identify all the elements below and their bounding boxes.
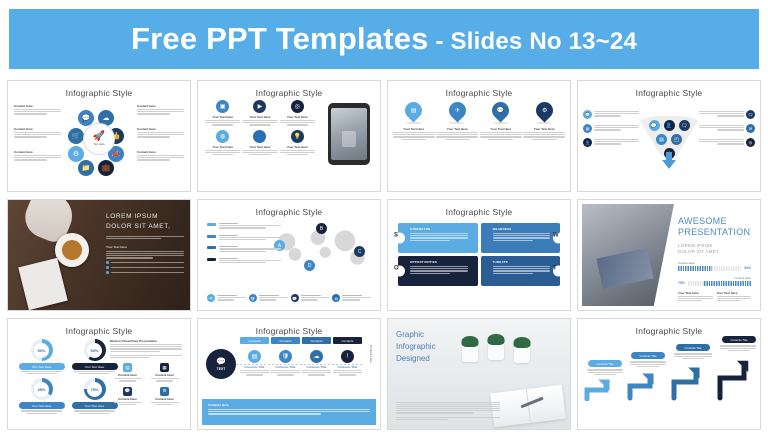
cell-heading: Your Text Here	[280, 115, 315, 119]
pin-item: 💬 Your Text Here	[480, 102, 522, 141]
slide-thumbnail-3[interactable]: Infographic Style ▤ Your Text Here ✈ You…	[387, 80, 571, 192]
comment-icon: 🗨	[679, 120, 690, 131]
coffee-photo: LOREM IPSUM DOLOR SIT AMET, Your Text He…	[8, 200, 190, 310]
icon-cell: 💡Your Text Here	[280, 130, 315, 157]
slide-text-block: AWESOME PRESENTATION LOREM IPSUM DOLOR S…	[678, 216, 751, 302]
donut-chart: 50%	[31, 339, 53, 361]
icon-cell: 👤Your Text Here	[242, 130, 277, 157]
user-icon: 👤	[664, 120, 675, 131]
step-heading: Contents Title	[240, 365, 269, 369]
slide-title: Infographic Style	[202, 88, 376, 98]
icon-heading: Content Here	[147, 397, 182, 401]
bar-label: Content Here	[678, 261, 751, 265]
donut-pill: Your Text Here	[19, 402, 65, 409]
swot-quadrant-t: T THREATS	[481, 256, 561, 286]
caption-heading: Your Text Here	[717, 291, 752, 295]
donut-percent: 35%	[34, 382, 49, 397]
pin-item: ✈ Your Text Here	[436, 102, 478, 141]
target-icon: ◎	[291, 100, 304, 113]
map-pin-icon: 💬	[489, 98, 513, 122]
center-label: Text Here	[93, 143, 104, 146]
slide-grid: Infographic Style Content Here Content H…	[7, 80, 761, 430]
swot-badge: S	[394, 233, 405, 244]
step-tab: Contents	[302, 337, 331, 344]
donut-percent: 60%	[87, 343, 102, 358]
funnel-right-list: 🗨 ✉ ◎	[699, 110, 755, 152]
body-text	[396, 401, 500, 422]
heading-line-2: DOLOR SIT AMET,	[106, 222, 184, 232]
slide-thumbnail-12[interactable]: Infographic Style Contents Title Content…	[577, 318, 761, 430]
map-pin-icon: ✈	[445, 98, 469, 122]
slide-thumbnail-4[interactable]: Infographic Style 💬 👤 🗨 ▤ ◰	[577, 80, 761, 192]
alert-icon: !	[341, 350, 354, 363]
petal-icon-8: 🛒	[68, 128, 84, 144]
content-heading: Content Here	[14, 150, 61, 154]
slide-title: Infographic Style	[392, 207, 566, 217]
person-icon: 👤	[253, 130, 266, 143]
doc-icon: ▤	[583, 124, 592, 133]
slide-title: Infographic Style	[582, 326, 756, 336]
map-footer-items: ☂ 🛡 💬 ◍	[207, 294, 371, 302]
pin-heading: Your Text Here	[436, 127, 478, 131]
pin-heading: Your Text Here	[393, 127, 435, 131]
tag-icon: ◰	[671, 134, 682, 145]
heading-line-2: Infographic	[396, 341, 436, 353]
petal-icon-6: 📁	[78, 160, 94, 176]
section-label: Your Text Here	[106, 245, 184, 249]
timeline-step: Contents ! Contents Title	[333, 337, 362, 377]
slide-thumbnail-5[interactable]: LOREM IPSUM DOLOR SIT AMET, Your Text He…	[7, 199, 191, 311]
chat-icon: 💬	[649, 120, 660, 131]
plant-pot-3	[514, 346, 530, 363]
image-icon: ▣	[216, 100, 229, 113]
icon-cell: ◎Your Text Here	[280, 100, 315, 127]
swot-label: WEAKNESS	[493, 227, 551, 231]
down-arrow-icon	[662, 160, 676, 169]
slide-title: Infographic Style	[392, 88, 566, 98]
funnel-diagram: 💬 👤 🗨 ▤ ◰ ◎	[582, 100, 756, 174]
content-heading: Content Here	[14, 127, 61, 131]
sub-line-1: LOREM IPSUM	[678, 243, 751, 250]
banner-main-text: Free PPT Templates	[131, 21, 429, 56]
chat-icon: 💬	[583, 110, 592, 119]
swot-badge: T	[553, 266, 564, 277]
progress-bar-row-1: Content Here 54%	[678, 261, 751, 271]
timeline-hub: 💬 TEXT	[206, 349, 236, 379]
swot-quadrant-s: S STRENGTHS	[398, 223, 478, 253]
step-tab: Contents	[271, 337, 300, 344]
banner-title: Free PPT Templates - Slides No 13~24	[131, 21, 637, 57]
slide-heading: Graphic Infographic Designed	[396, 329, 436, 365]
heading-line-1: AWESOME	[678, 216, 751, 227]
swot-quadrant-o: O OPPORTUNITIES	[398, 256, 478, 286]
globe-icon: ◍	[216, 130, 229, 143]
doc-icon: ▤	[123, 363, 132, 372]
page-root: Free PPT Templates - Slides No 13~24 Inf…	[0, 0, 768, 435]
progress-bar	[688, 281, 751, 286]
donut-chart: 35%	[31, 378, 53, 400]
icon-grid: ▣Your Text Here ▶Your Text Here ◎Your Te…	[205, 100, 315, 156]
donut-item: 35% Your Text Here	[16, 378, 67, 414]
bulb-icon: 💡	[291, 130, 304, 143]
doc-icon: ▤	[248, 350, 261, 363]
arrow-group: Contents Title Contents Title	[582, 338, 756, 412]
swot-label: STRENGTHS	[410, 227, 468, 231]
map-marker-b: B	[316, 223, 327, 234]
map-pin-row: ▤ Your Text Here ✈ Your Text Here 💬	[392, 102, 566, 141]
heading-line-1: Graphic	[396, 329, 436, 341]
progress-bar	[678, 266, 741, 271]
arrow-pill: Contents Title	[676, 344, 710, 351]
coffee-cup	[55, 233, 89, 267]
comment-icon: 🗨	[746, 110, 755, 119]
bar-percent: 54%	[744, 266, 751, 270]
slide-title: Infographic Style	[582, 88, 756, 98]
cloud-icon: ☁	[310, 350, 323, 363]
arrow-item-2: Contents Title	[626, 352, 670, 406]
circular-diagram: Content Here Content Here Content Here C…	[12, 100, 186, 178]
globe-icon: ◍	[332, 294, 340, 302]
heading-line-3: Designed	[396, 353, 436, 365]
donut-chart: 75%	[84, 378, 106, 400]
side-heading: Modern PowerPoint Presentation	[110, 339, 182, 343]
footer-heading: Contents Here	[208, 403, 370, 407]
swot-matrix: S STRENGTHS W WEAKNESS O OPPORTUNITIES	[392, 219, 566, 286]
pin-heading: Your Text Here	[480, 127, 522, 131]
cell-heading: Your Text Here	[280, 145, 315, 149]
smartphone-mockup	[328, 103, 370, 165]
arrow-pill: Contents Title	[588, 360, 622, 367]
map-marker-d: D	[304, 260, 315, 271]
icon-heading: Content Here	[110, 373, 145, 377]
icon-cell: ◍Your Text Here	[205, 130, 240, 157]
world-map: A B C D	[268, 220, 372, 272]
caption-heading: Your Text Here	[678, 291, 713, 295]
petal-icon-7: ⚙	[68, 146, 84, 162]
footer-band: Contents Here	[202, 399, 376, 425]
rocket-icon: 🚀	[93, 132, 105, 142]
slide-text-block: LOREM IPSUM DOLOR SIT AMET, Your Text He…	[106, 212, 184, 274]
timeline-step: Contents ▤ Contents Title	[240, 337, 269, 377]
hub-label: TEXT	[217, 367, 226, 371]
side-text-block: Modern PowerPoint Presentation ▤Content …	[110, 339, 182, 406]
person-photo	[582, 204, 674, 306]
swot-badge: O	[394, 266, 405, 277]
content-heading: Content Here	[137, 104, 184, 108]
donut-group: 50% Your Text Here 60% Your Text Here 35…	[16, 339, 120, 415]
map-pin-icon: ▤	[402, 98, 426, 122]
gear-icon: ⚙	[160, 387, 169, 396]
chat-icon: 💬	[216, 357, 226, 366]
slide-thumbnail-10[interactable]: Infographic Style 💬 TEXT Contents ▤ Cont…	[197, 318, 381, 430]
book-shape	[18, 257, 67, 309]
funnel-left-list: 💬 ▤ 👤	[583, 110, 639, 152]
slide-title: Infographic Style	[12, 326, 186, 336]
donut-item: 50% Your Text Here	[16, 339, 67, 375]
bar-label: Content Here	[678, 276, 751, 280]
pin-item: ▤ Your Text Here	[393, 102, 435, 141]
arrow-item-3: Contents Title	[670, 344, 716, 406]
cell-heading: Your Text Here	[242, 145, 277, 149]
slide-thumbnail-9[interactable]: Infographic Style 50% Your Text Here 60%…	[7, 318, 191, 430]
target-icon: ◎	[746, 138, 755, 147]
map-legend	[207, 222, 281, 268]
donut-percent: 75%	[87, 382, 102, 397]
progress-bar-row-2: Content Here 75%	[678, 276, 751, 286]
cell-heading: Your Text Here	[205, 145, 240, 149]
play-icon: ▶	[253, 100, 266, 113]
map-pin-icon: ⚙	[532, 98, 556, 122]
slide-title: Infographic Style	[202, 326, 376, 336]
heading-line-2: PRESENTATION	[678, 227, 751, 238]
arrow-item-1: Contents Title	[584, 360, 626, 406]
swot-label: OPPORTUNITIES	[410, 260, 468, 264]
arrow-pill: Contents Title	[722, 336, 756, 343]
map-marker-c: C	[354, 246, 365, 257]
pin-heading: Your Text Here	[523, 127, 565, 131]
swot-label: THREATS	[493, 260, 551, 264]
arrow-item-4: Contents Title	[716, 336, 756, 406]
content-heading: Content Here	[137, 127, 184, 131]
icon-cell: ▣Your Text Here	[205, 100, 240, 127]
slide-thumbnail-11[interactable]: Graphic Infographic Designed	[387, 318, 571, 430]
plant-pot-1	[462, 345, 478, 362]
shield-icon: 🛡	[279, 350, 292, 363]
slide-thumbnail-2[interactable]: Infographic Style ▣Your Text Here ▶Your …	[197, 80, 381, 192]
arrow-icon	[584, 377, 626, 401]
step-tab: Contents	[240, 337, 269, 344]
timeline-steps: Contents ▤ Contents Title Contents 🛡 Con…	[240, 337, 362, 377]
arrow-icon	[716, 353, 756, 401]
swot-quadrant-w: W WEAKNESS	[481, 223, 561, 253]
plants-photo: Graphic Infographic Designed	[388, 319, 570, 429]
slide-title: Infographic Style	[202, 207, 376, 217]
arrow-icon	[626, 369, 670, 401]
petal-icon-5: 💼	[98, 160, 114, 176]
notebook	[490, 385, 566, 428]
vertical-label: Content Here	[369, 345, 373, 363]
timeline-step: Contents ☁ Contents Title	[302, 337, 331, 377]
timeline-step: Contents 🛡 Contents Title	[271, 337, 300, 377]
user-icon: 👤	[583, 138, 592, 147]
slide-thumbnail-7[interactable]: Infographic Style S STRENGTHS W WEAKNESS…	[387, 199, 571, 311]
slide-thumbnail-6[interactable]: Infographic Style A B C D ☂ 🛡 💬	[197, 199, 381, 311]
step-heading: Contents Title	[271, 365, 300, 369]
icon-heading: Content Here	[147, 373, 182, 377]
donut-percent: 50%	[34, 343, 49, 358]
content-heading: Content Here	[137, 150, 184, 154]
pin-item: ⚙ Your Text Here	[523, 102, 565, 141]
icon-cell: ▶Your Text Here	[242, 100, 277, 127]
icon-heading: Content Here	[110, 397, 145, 401]
card-icon: ▦	[160, 363, 169, 372]
step-tab: Contents	[333, 337, 362, 344]
slide-thumbnail-1[interactable]: Infographic Style Content Here Content H…	[7, 80, 191, 192]
swot-badge: W	[553, 233, 564, 244]
center-node: 🚀 Text Here	[83, 123, 115, 155]
header-banner: Free PPT Templates - Slides No 13~24	[9, 9, 759, 69]
umbrella-icon: ☂	[207, 294, 215, 302]
chat-icon: 💬	[123, 387, 132, 396]
banner-sub-text: - Slides No 13~24	[429, 28, 637, 55]
cell-heading: Your Text Here	[242, 115, 277, 119]
chat-icon: 💬	[291, 294, 299, 302]
shield-icon: 🛡	[249, 294, 257, 302]
step-heading: Contents Title	[302, 365, 331, 369]
heading-line-1: LOREM IPSUM	[106, 212, 184, 222]
content-heading: Content Here	[14, 104, 61, 108]
donut-pill: Your Text Here	[19, 363, 65, 370]
mail-icon: ✉	[746, 124, 755, 133]
bar-percent: 75%	[678, 281, 685, 285]
cell-heading: Your Text Here	[205, 115, 240, 119]
step-heading: Contents Title	[333, 365, 362, 369]
sub-line-2: DOLOR SIT AMET,	[678, 249, 751, 256]
slide-thumbnail-8[interactable]: AWESOME PRESENTATION LOREM IPSUM DOLOR S…	[577, 199, 761, 311]
arrow-icon	[670, 361, 716, 401]
plant-pot-2	[488, 343, 504, 360]
arrow-pill: Contents Title	[631, 352, 665, 359]
doc-icon: ▤	[656, 134, 667, 145]
donut-chart: 60%	[84, 339, 106, 361]
slide-title: Infographic Style	[12, 88, 186, 98]
